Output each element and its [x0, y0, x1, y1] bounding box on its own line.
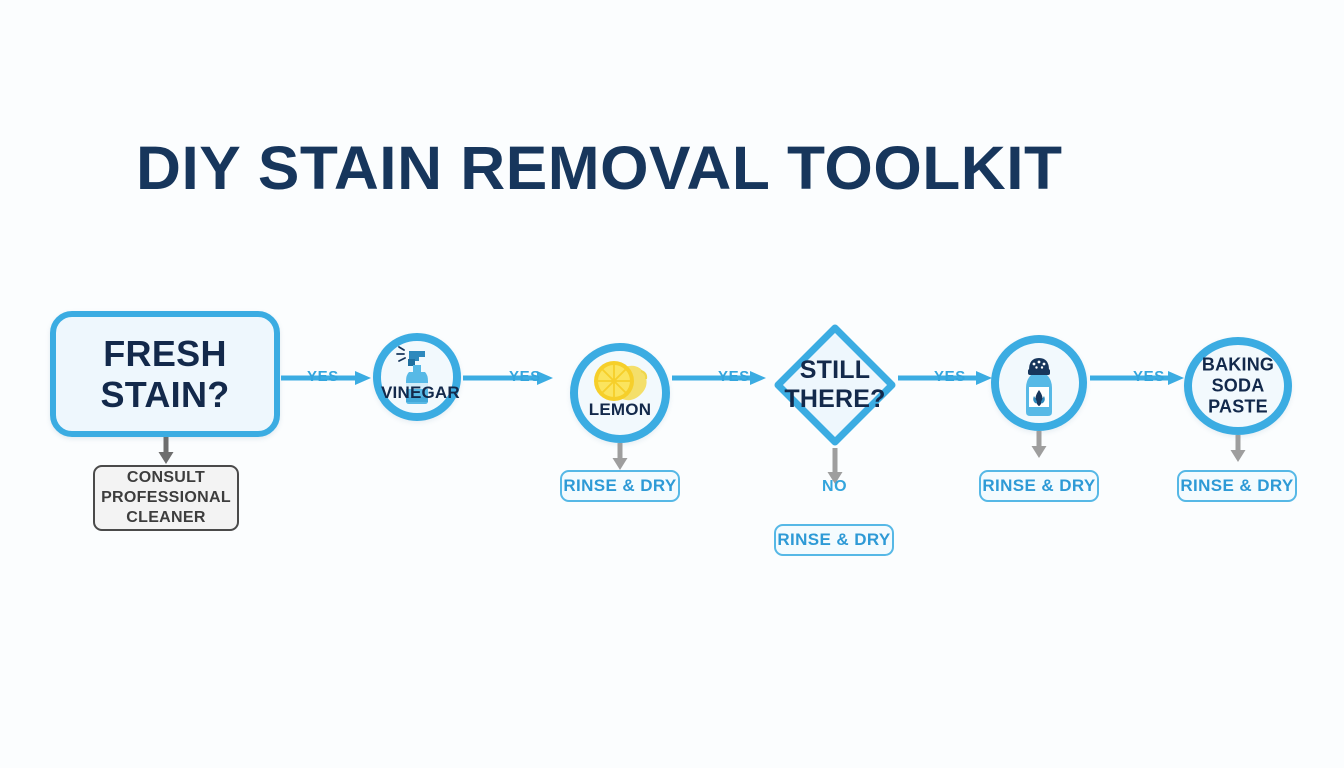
node-consult-label: CONSULT PROFESSIONAL CLEANER	[101, 468, 231, 528]
outcome-rinse-dry-still-there[interactable]: RINSE & DRY	[774, 524, 894, 556]
baking-soda-line1: BAKING	[1202, 355, 1274, 375]
arrow-down-icon	[1227, 435, 1249, 463]
infographic-canvas: DIY STAIN REMOVAL TOOLKIT FRESH STAIN? C…	[0, 0, 1344, 768]
node-vinegar[interactable]: VINEGAR	[373, 333, 461, 421]
node-baking-soda-paste-label: BAKING SODA PASTE	[1192, 355, 1284, 418]
node-shaker[interactable]	[991, 335, 1087, 431]
consult-line1: CONSULT	[127, 469, 205, 486]
arrow-down-icon	[1028, 431, 1050, 459]
arrow-down-icon	[155, 437, 177, 465]
connector-baking-soda-to-rinse	[1227, 435, 1249, 463]
lemon-glyph	[589, 359, 651, 405]
lemon-icon	[589, 359, 651, 405]
baking-soda-line2: SODA	[1212, 376, 1265, 396]
still-there-line2: THERE?	[784, 385, 885, 413]
page-title: DIY STAIN REMOVAL TOOLKIT	[136, 133, 1115, 203]
connector-3-label: YES	[718, 368, 750, 385]
node-vinegar-label: VINEGAR	[381, 383, 453, 402]
baking-soda-line3: PASTE	[1208, 397, 1268, 417]
node-still-there[interactable]: STILL THERE?	[772, 322, 898, 448]
consult-line2: PROFESSIONAL	[101, 489, 231, 506]
still-there-line1: STILL	[800, 356, 870, 384]
node-still-there-label: STILL THERE?	[772, 356, 898, 414]
connector-fresh-stain-to-consult	[155, 437, 177, 465]
node-baking-soda-paste[interactable]: BAKING SODA PASTE	[1184, 337, 1292, 435]
node-fresh-stain-line1: FRESH	[103, 333, 227, 374]
node-fresh-stain[interactable]: FRESH STAIN?	[50, 311, 280, 437]
node-fresh-stain-label: FRESH STAIN?	[100, 333, 229, 415]
connector-2-label: YES	[509, 368, 541, 385]
shaker-bottle-glyph	[1018, 356, 1060, 418]
node-lemon[interactable]: LEMON	[570, 343, 670, 443]
consult-line3: CLEANER	[126, 509, 205, 526]
node-consult-professional-cleaner[interactable]: CONSULT PROFESSIONAL CLEANER	[93, 465, 239, 531]
connector-lemon-to-rinse	[609, 443, 631, 471]
connector-5-label: YES	[1133, 368, 1165, 385]
node-lemon-label: LEMON	[578, 400, 662, 419]
connector-1-label: YES	[307, 368, 339, 385]
connector-6-label: NO	[822, 478, 847, 496]
node-fresh-stain-line2: STAIN?	[100, 374, 229, 415]
connector-4-label: YES	[934, 368, 966, 385]
outcome-rinse-dry-shaker[interactable]: RINSE & DRY	[979, 470, 1099, 502]
arrow-down-icon	[609, 443, 631, 471]
shaker-bottle-icon	[1018, 356, 1060, 418]
outcome-rinse-dry-baking-soda[interactable]: RINSE & DRY	[1177, 470, 1297, 502]
connector-shaker-to-rinse	[1028, 431, 1050, 459]
outcome-rinse-dry-lemon[interactable]: RINSE & DRY	[560, 470, 680, 502]
